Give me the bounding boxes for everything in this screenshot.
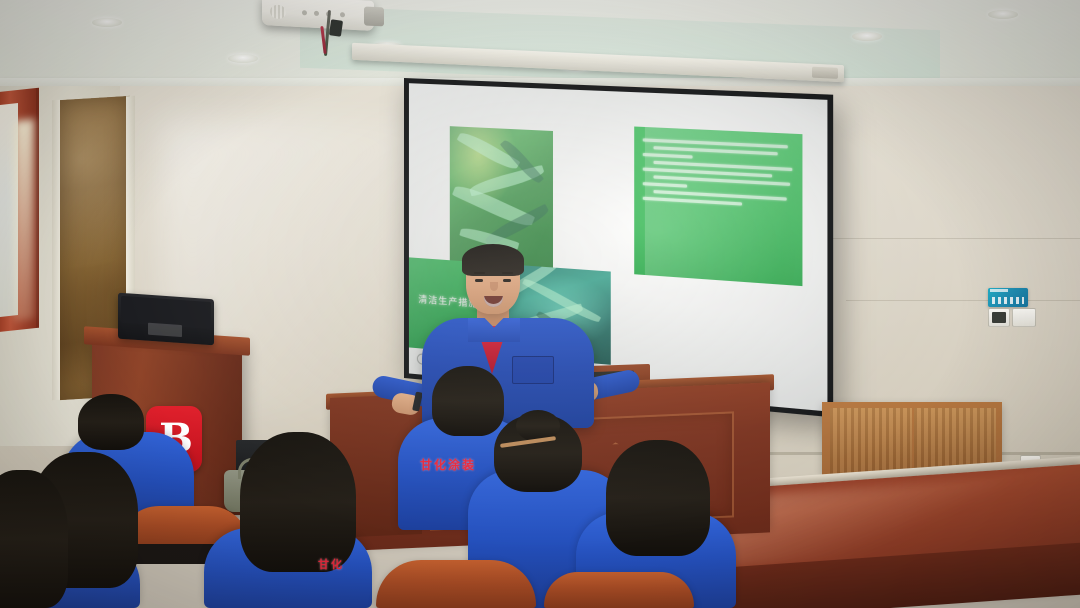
downlight-icon bbox=[228, 54, 258, 63]
presenter-chest-pocket bbox=[512, 356, 554, 384]
chair-back bbox=[376, 560, 536, 608]
attendee-hair bbox=[240, 432, 356, 572]
projector-vent-icon bbox=[270, 4, 286, 19]
lectern-monitor[interactable] bbox=[118, 293, 214, 346]
presenter-eyebrow-right bbox=[502, 272, 513, 274]
screen-housing-endcap bbox=[812, 67, 838, 79]
attendee-back-text: 甘化 bbox=[318, 556, 344, 572]
ac-panel-header bbox=[990, 289, 1008, 292]
attendee-back-text: 甘化涂装 bbox=[420, 456, 476, 473]
column-trim-left bbox=[52, 100, 60, 400]
attendee-hair bbox=[0, 470, 68, 608]
attendee-hair bbox=[606, 440, 710, 556]
presenter-nose bbox=[490, 282, 498, 291]
projector-lens-icon bbox=[364, 6, 384, 26]
ac-controller-panel[interactable] bbox=[988, 288, 1028, 307]
presenter-eyebrow-left bbox=[474, 272, 485, 274]
attendee-hair bbox=[432, 366, 504, 436]
wall-seam bbox=[846, 300, 1080, 301]
slide-text-block bbox=[634, 127, 803, 287]
projector-connector bbox=[329, 19, 343, 37]
downlight-icon bbox=[852, 32, 882, 41]
switch-plate-dark[interactable] bbox=[988, 308, 1010, 327]
attendee-hair bbox=[78, 394, 144, 450]
downlight-icon bbox=[92, 18, 122, 27]
projector-knob-icon bbox=[340, 12, 345, 17]
projector-knob-icon bbox=[314, 11, 319, 16]
conference-room-photo: 清洁生产措施 bbox=[0, 0, 1080, 608]
monitor-brand-badge bbox=[148, 323, 182, 337]
presenter-eye-left bbox=[475, 279, 483, 282]
presenter-hair bbox=[462, 244, 524, 276]
switch-plate-white[interactable] bbox=[1012, 308, 1036, 327]
presenter-eye-right bbox=[503, 279, 511, 282]
chair-back bbox=[544, 572, 694, 608]
projector-knob-icon bbox=[302, 10, 307, 15]
ac-panel-display-icon bbox=[992, 297, 1024, 304]
window-daylight-glow bbox=[14, 119, 34, 321]
downlight-icon bbox=[988, 10, 1018, 19]
